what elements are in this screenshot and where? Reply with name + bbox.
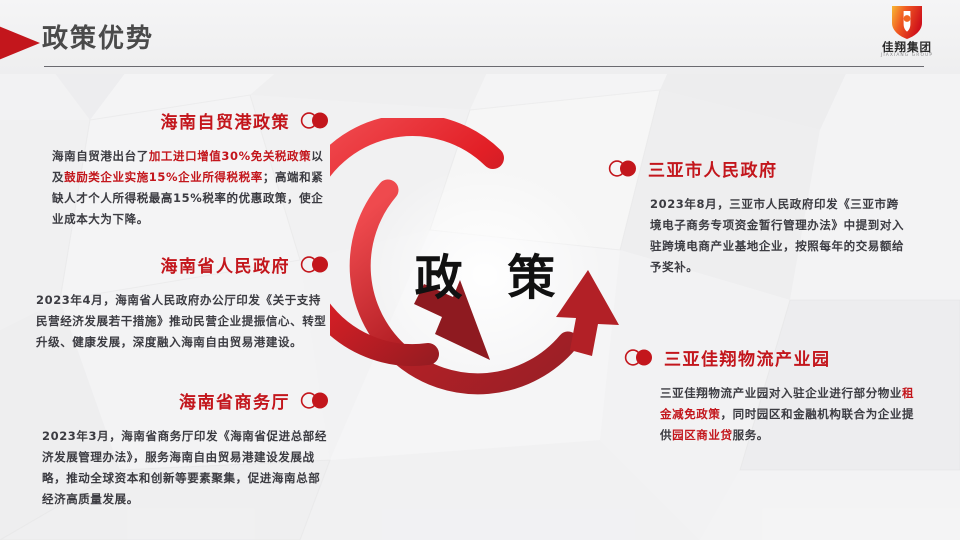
policy-block-hainan-ftz: 海南自贸港政策 海南自贸港出台了加工进口增值30%免关税政策以及鼓励类企业实施1…: [52, 108, 330, 230]
block-body: 三亚佳翔物流产业园对入驻企业进行部分物业租金减免政策，同时园区和金融机构联合为企…: [660, 383, 924, 446]
page-title: 政策优势: [42, 24, 154, 54]
circle-pair-icon: [608, 160, 638, 177]
block-body: 2023年4月，海南省人民政府办公厅印发《关于支持民营经济发展若干措施》推动民营…: [36, 290, 330, 353]
circle-pair-icon: [624, 349, 654, 366]
body-run: 服务。: [733, 428, 769, 442]
block-title: 海南自贸港政策: [161, 108, 291, 133]
slide-canvas: 政策优势 佳翔集团 JIAXIANG GROUP: [0, 0, 960, 540]
block-title: 三亚佳翔物流产业园: [664, 345, 831, 370]
block-title: 三亚市人民政府: [648, 156, 778, 181]
block-title: 海南省商务厅: [179, 388, 290, 413]
body-run: 海南自贸港出台了: [52, 149, 149, 163]
brand-logo: 佳翔集团 JIAXIANG GROUP: [866, 4, 948, 62]
shield-logo-icon: [890, 4, 924, 40]
body-run-highlight: 园区商业贷: [672, 428, 733, 442]
block-body: 2023年3月，海南省商务厅印发《海南省促进总部经济发展管理办法》，服务海南自由…: [42, 426, 330, 510]
circle-pair-icon: [300, 112, 330, 129]
title-divider: [44, 66, 924, 67]
right-triangle-icon: [0, 16, 40, 70]
logo-name: 佳翔集团: [866, 41, 948, 53]
body-run: 三亚佳翔物流产业园对入驻企业进行部分物业: [660, 386, 902, 400]
body-run-highlight: 加工进口增值30%免关税政策: [149, 149, 311, 163]
block-body: 2023年8月，三亚市人民政府印发《三亚市跨境电子商务专项资金暂行管理办法》中提…: [650, 194, 908, 278]
circle-pair-icon: [300, 392, 330, 409]
circle-pair-icon: [300, 256, 330, 273]
block-header: 海南省人民政府: [36, 252, 330, 277]
block-header: 三亚佳翔物流产业园: [624, 345, 924, 370]
policy-block-jiaxiang-park: 三亚佳翔物流产业园 三亚佳翔物流产业园对入驻企业进行部分物业租金减免政策，同时园…: [624, 345, 924, 446]
block-header: 海南自贸港政策: [52, 108, 330, 133]
policy-block-sanya-city: 三亚市人民政府 2023年8月，三亚市人民政府印发《三亚市跨境电子商务专项资金暂…: [608, 156, 908, 278]
slide-header: 政策优势: [0, 0, 960, 74]
policy-block-hainan-province: 海南省人民政府 2023年4月，海南省人民政府办公厅印发《关于支持民营经济发展若…: [36, 252, 330, 353]
block-header: 三亚市人民政府: [608, 156, 908, 181]
logo-subtitle: JIAXIANG GROUP: [866, 53, 948, 59]
center-label: 政 策: [330, 118, 640, 428]
block-body: 海南自贸港出台了加工进口增值30%免关税政策以及鼓励类企业实施15%企业所得税税…: [52, 146, 330, 230]
block-title: 海南省人民政府: [161, 252, 291, 277]
block-header: 海南省商务厅: [42, 388, 330, 413]
body-run-highlight: 鼓励类企业实施15%企业所得税税率: [64, 170, 263, 184]
policy-block-hainan-commerce: 海南省商务厅 2023年3月，海南省商务厅印发《海南省促进总部经济发展管理办法》…: [42, 388, 330, 510]
